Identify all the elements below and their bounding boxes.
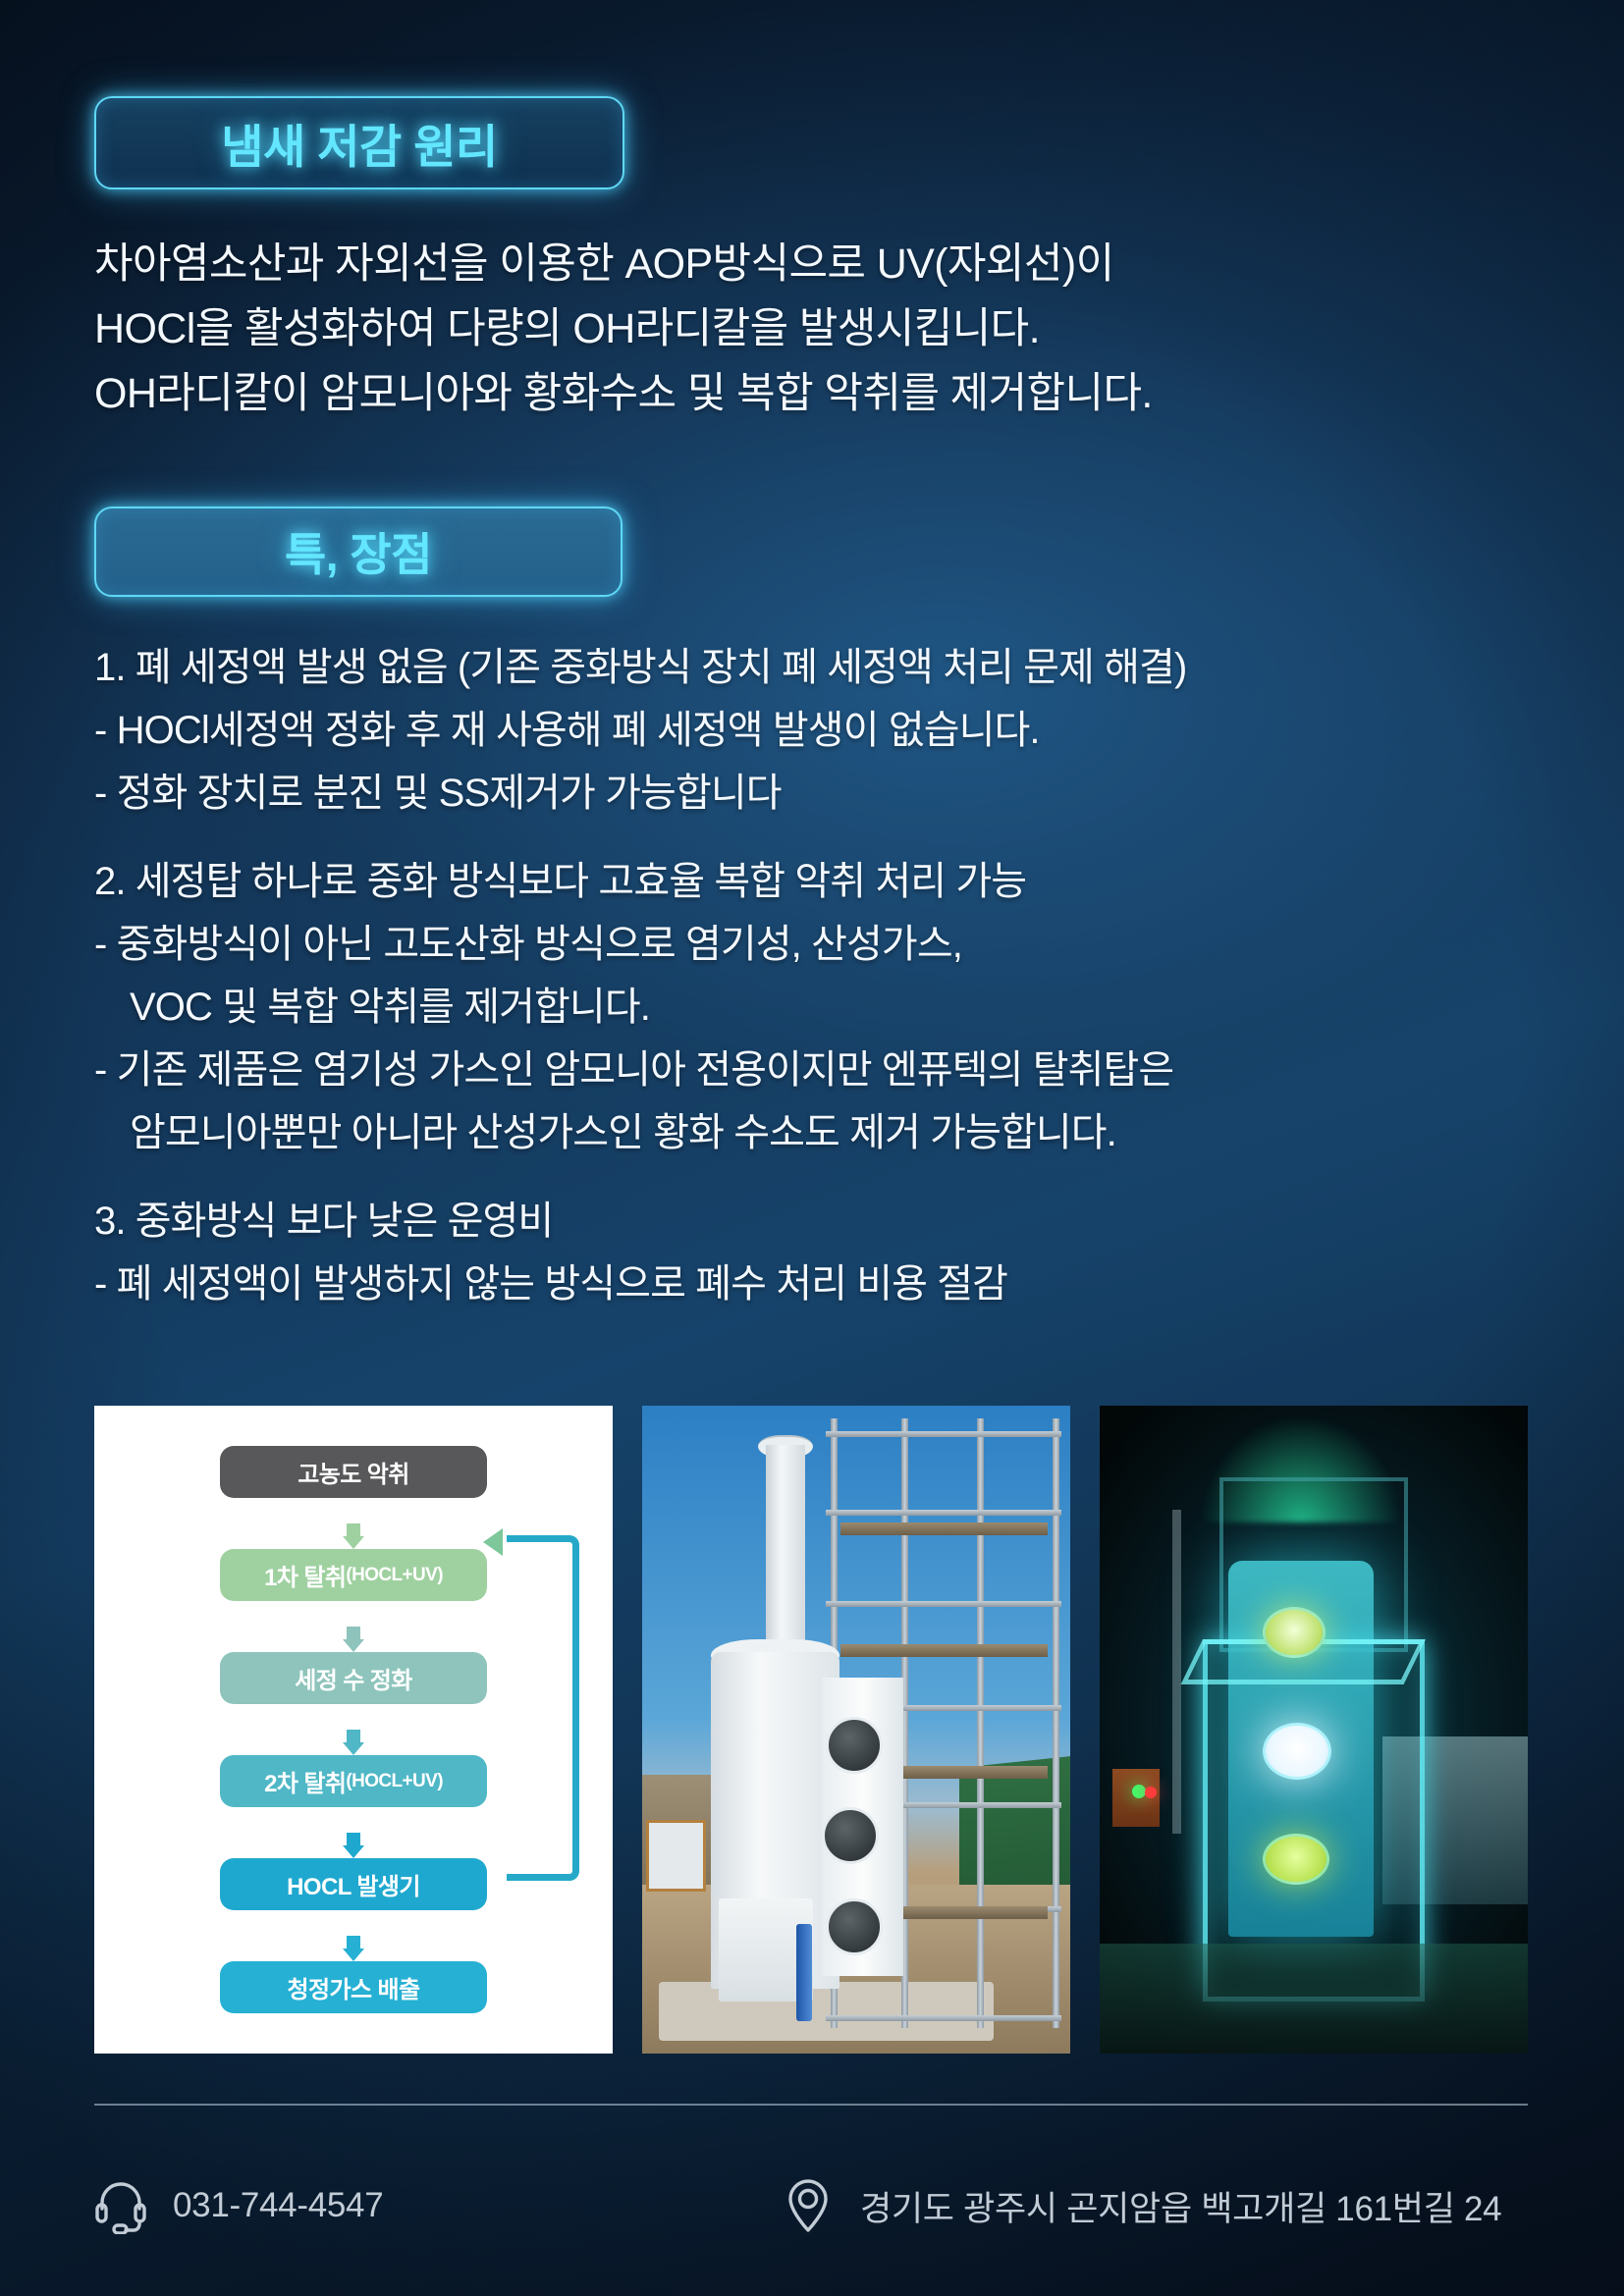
flow-node-label: 1차 탈취 xyxy=(264,1558,346,1592)
footer-phone[interactable]: 031-744-4547 xyxy=(94,2177,782,2234)
flow-node-label: 세정 수 정화 xyxy=(295,1661,412,1695)
intro-line-2: HOCl을 활성화하여 다량의 OH라디칼을 발생시킵니다. xyxy=(94,296,1528,361)
photo-scrubber-daytime xyxy=(642,1406,1070,2054)
inspection-port xyxy=(826,1898,883,1955)
viewport-white xyxy=(1263,1723,1331,1780)
feature-detail: VOC 및 복합 악취를 제거합니다. xyxy=(94,976,1538,1039)
phone-number: 031-744-4547 xyxy=(173,2186,383,2225)
feature-detail: 암모니아뿐만 아니라 산성가스인 황화 수소도 제거 가능합니다. xyxy=(94,1101,1538,1164)
flow-node-3: 2차 탈취(HOCL+UV) xyxy=(220,1755,487,1807)
flow-node-label: 청정가스 배출 xyxy=(288,1970,420,2004)
feature-group-2: 2. 세정탑 하나로 중화 방식보다 고효율 복합 악취 처리 가능 - 중화방… xyxy=(94,850,1538,1164)
image-gallery: 고농도 악취 1차 탈취(HOCL+UV) 세정 수 정화 2차 xyxy=(94,1406,1528,2054)
feature-group-3: 3. 중화방식 보다 낮은 운영비 - 폐 세정액이 발생하지 않는 방식으로 … xyxy=(94,1190,1538,1315)
flowchart-body: 고농도 악취 1차 탈취(HOCL+UV) 세정 수 정화 2차 xyxy=(94,1406,613,2054)
exhaust-stack xyxy=(766,1445,804,1665)
utility-pole xyxy=(1172,1510,1181,1834)
daytime-scene xyxy=(642,1406,1070,2054)
flow-feedback-loop xyxy=(507,1535,579,1881)
flow-node-0: 고농도 악취 xyxy=(220,1446,487,1498)
address-text: 경기도 광주시 곤지암읍 백고개길 161번길 24 xyxy=(860,2181,1501,2231)
feature-detail: - 기존 제품은 염기성 가스인 암모니아 전용이지만 엔퓨텍의 탈취탑은 xyxy=(94,1039,1538,1101)
viewport-green-upper xyxy=(1263,1607,1326,1658)
section-badge-principle: 냄새 저감 원리 xyxy=(94,96,624,189)
photo-scrubber-night xyxy=(1100,1406,1528,2054)
feature-heading: 2. 세정탑 하나로 중화 방식보다 고효율 복합 악취 처리 가능 xyxy=(94,850,1538,913)
feature-list: 1. 폐 세정액 발생 없음 (기존 중화방식 장치 폐 세정액 처리 문제 해… xyxy=(94,636,1538,1315)
feature-heading: 1. 폐 세정액 발생 없음 (기존 중화방식 장치 폐 세정액 처리 문제 해… xyxy=(94,636,1538,699)
headset-icon xyxy=(94,2177,147,2234)
flow-node-label: 고농도 악취 xyxy=(298,1455,408,1489)
flow-node-sub: (HOCL+UV) xyxy=(346,1771,443,1792)
feature-detail: - 중화방식이 아닌 고도산화 방식으로 염기성, 산성가스, xyxy=(94,913,1538,976)
night-scene xyxy=(1100,1406,1528,2054)
intro-line-1: 차아염소산과 자외선을 이용한 AOP방식으로 UV(자외선)이 xyxy=(94,232,1528,296)
control-panel xyxy=(646,1820,706,1892)
flow-node-1: 1차 탈취(HOCL+UV) xyxy=(220,1549,487,1601)
inspection-port xyxy=(822,1807,879,1864)
brochure-page: 냄새 저감 원리 차아염소산과 자외선을 이용한 AOP방식으로 UV(자외선)… xyxy=(0,0,1624,2296)
flow-node-4: HOCL 발생기 xyxy=(220,1858,487,1910)
feature-detail: - 폐 세정액이 발생하지 않는 방식으로 폐수 처리 비용 절감 xyxy=(94,1253,1538,1315)
footer: 031-744-4547 경기도 광주시 곤지암읍 백고개길 161번길 24 xyxy=(94,2177,1528,2234)
section-badge-features: 특, 장점 xyxy=(94,507,623,597)
process-flowchart: 고농도 악취 1차 탈취(HOCL+UV) 세정 수 정화 2차 xyxy=(94,1406,613,2054)
intro-paragraph: 차아염소산과 자외선을 이용한 AOP방식으로 UV(자외선)이 HOCl을 활… xyxy=(94,232,1528,426)
flow-node-2: 세정 수 정화 xyxy=(220,1652,487,1704)
viewport-green-lower xyxy=(1263,1834,1329,1885)
flow-node-5: 청정가스 배출 xyxy=(220,1961,487,2013)
flow-node-sub: (HOCL+UV) xyxy=(346,1565,443,1586)
inspection-port xyxy=(826,1717,883,1774)
feature-heading: 3. 중화방식 보다 낮은 운영비 xyxy=(94,1190,1538,1253)
feature-detail: - HOCl세정액 정화 후 재 사용해 폐 세정액 발생이 없습니다. xyxy=(94,699,1538,762)
feature-detail: - 정화 장치로 분진 및 SS제거가 가능합니다 xyxy=(94,762,1538,825)
map-pin-icon xyxy=(782,2177,835,2234)
flow-node-label: HOCL 발생기 xyxy=(287,1867,420,1901)
flow-node-label: 2차 탈취 xyxy=(264,1764,346,1798)
footer-address[interactable]: 경기도 광주시 곤지암읍 백고개길 161번길 24 xyxy=(782,2177,1501,2234)
blue-pipe xyxy=(796,1924,812,2021)
led-green xyxy=(1132,1785,1146,1798)
footer-divider xyxy=(94,2104,1528,2106)
led-red xyxy=(1145,1787,1157,1798)
intro-line-3: OH라디칼이 암모니아와 황화수소 및 복합 악취를 제거합니다. xyxy=(94,361,1528,426)
ground xyxy=(1100,1944,1528,2054)
feature-group-1: 1. 폐 세정액 발생 없음 (기존 중화방식 장치 폐 세정액 처리 문제 해… xyxy=(94,636,1538,825)
